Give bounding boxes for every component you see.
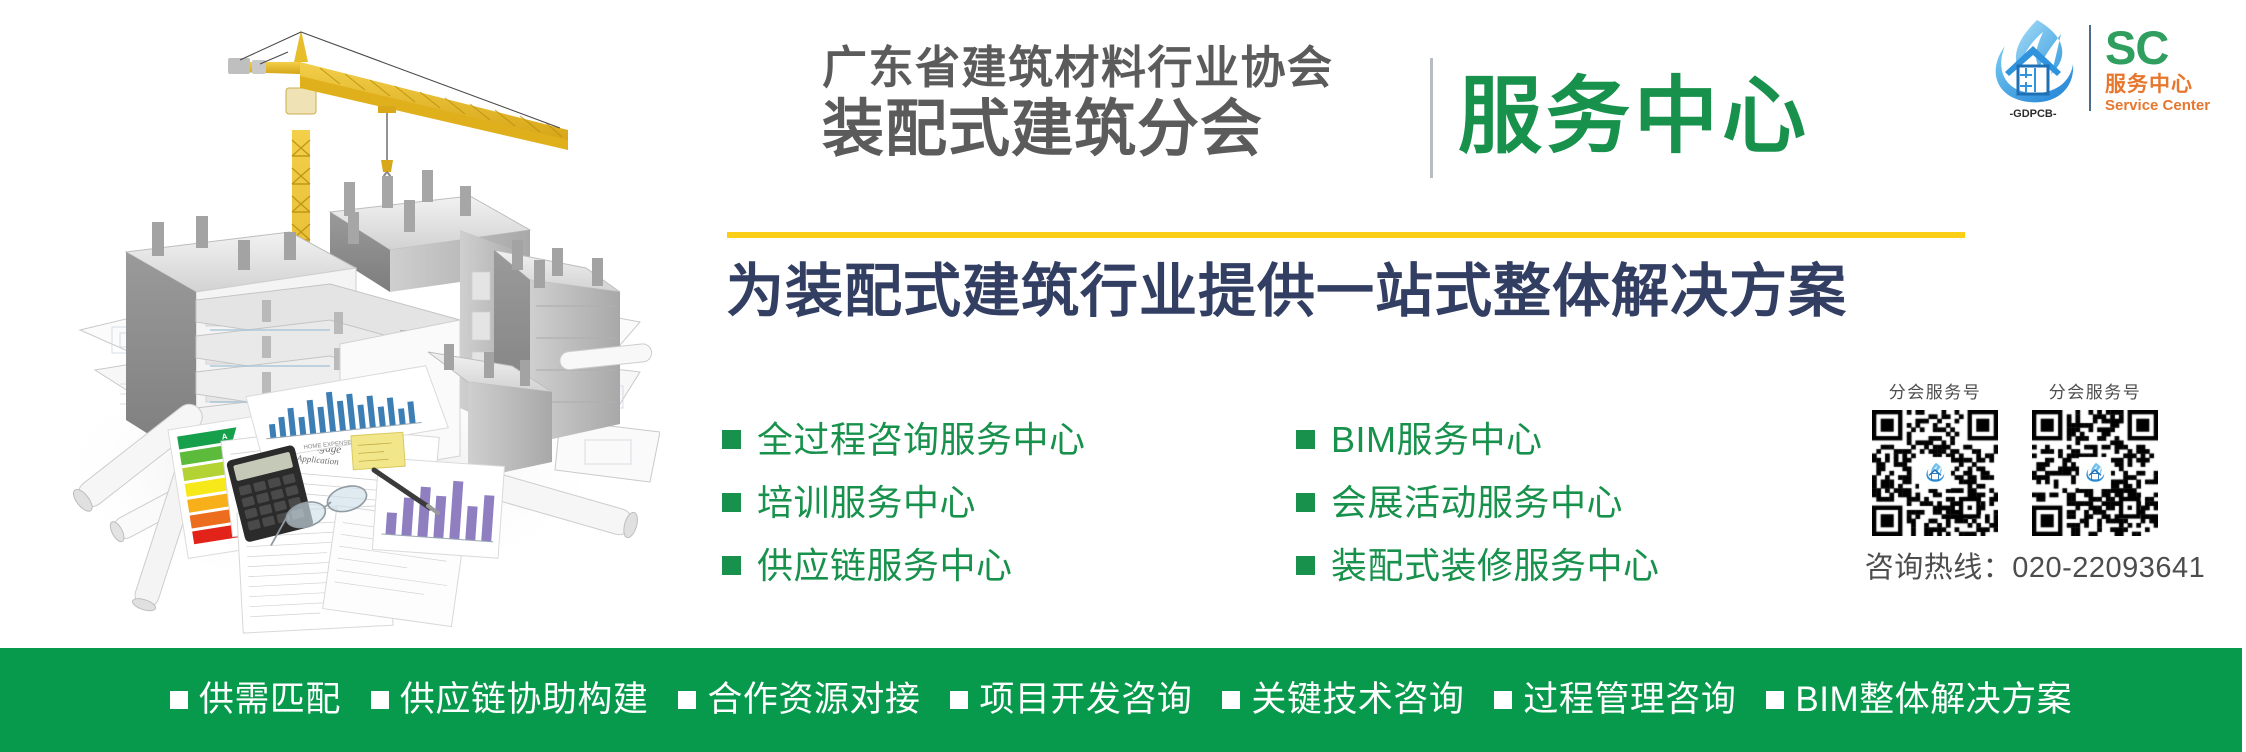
association-name: 广东省建筑材料行业协会: [822, 42, 1412, 94]
qr-code-icon[interactable]: [1872, 410, 1998, 536]
page-tagline: 为装配式建筑行业提供一站式整体解决方案: [726, 256, 1847, 328]
sticky-note: [351, 432, 405, 470]
square-bullet-icon: [1494, 691, 1512, 709]
square-bullet-icon: [950, 691, 968, 709]
list-item[interactable]: 会展活动服务中心: [1296, 471, 1660, 534]
construction-site-illustration: ABC DEF G Mortgage Application: [0, 0, 660, 640]
bar-item-label: 过程管理咨询: [1523, 680, 1736, 720]
service-center-label: 装配式装修服务中心: [1331, 546, 1660, 586]
bar-item[interactable]: 供应链协助构建: [371, 680, 649, 720]
gdpcb-flame-house-icon: -GDPCB-: [1985, 16, 2081, 120]
qr-cell[interactable]: 分会服务号: [1870, 382, 2000, 536]
service-center-label: 培训服务中心: [757, 483, 976, 523]
square-bullet-icon: [722, 556, 741, 575]
square-bullet-icon: [170, 691, 188, 709]
gdpcb-flame-house-icon: [2081, 459, 2109, 487]
list-item[interactable]: 培训服务中心: [722, 471, 1086, 534]
service-center-list-right: BIM服务中心 会展活动服务中心 装配式装修服务中心: [1296, 408, 1660, 597]
bar-item-label: 供需匹配: [199, 680, 341, 720]
sc-english-label: Service Center: [2105, 97, 2210, 114]
bar-item[interactable]: 过程管理咨询: [1494, 680, 1736, 720]
service-center-label: BIM服务中心: [1331, 420, 1543, 460]
bar-item[interactable]: 关键技术咨询: [1222, 680, 1464, 720]
gdpcb-flame-house-icon: [1921, 459, 1949, 487]
bar-item[interactable]: 供需匹配: [170, 680, 341, 720]
bar-item-label: 关键技术咨询: [1251, 680, 1464, 720]
square-bullet-icon: [1766, 691, 1784, 709]
service-center-list-left: 全过程咨询服务中心 培训服务中心 供应链服务中心: [722, 408, 1086, 597]
bar-item-label: 合作资源对接: [707, 680, 920, 720]
list-item[interactable]: 供应链服务中心: [722, 534, 1086, 597]
bar-item-label: BIM整体解决方案: [1795, 680, 2072, 720]
square-bullet-icon: [1296, 556, 1315, 575]
list-item[interactable]: BIM服务中心: [1296, 408, 1660, 471]
sc-abbreviation: SC: [2105, 26, 2210, 70]
service-center-label: 全过程咨询服务中心: [757, 420, 1086, 460]
sc-wordmark: SC 服务中心 Service Center: [2105, 22, 2210, 114]
service-center-heading: 服务中心: [1458, 56, 1810, 176]
bar-item-label: 供应链协助构建: [400, 680, 649, 720]
logo-lockup[interactable]: -GDPCB- SC 服务中心 Service Center: [1985, 14, 2235, 122]
service-center-label: 会展活动服务中心: [1331, 483, 1623, 523]
square-bullet-icon: [722, 430, 741, 449]
square-bullet-icon: [1296, 430, 1315, 449]
qr-caption: 分会服务号: [1870, 382, 2000, 404]
vertical-rule-icon: [1430, 58, 1433, 178]
bar-item[interactable]: BIM整体解决方案: [1766, 680, 2072, 720]
gold-divider: [727, 232, 1965, 238]
qr-cell[interactable]: 分会服务号: [2030, 382, 2160, 536]
promotional-banner: ABC DEF G Mortgage Application: [0, 0, 2246, 752]
square-bullet-icon: [1222, 691, 1240, 709]
square-bullet-icon: [678, 691, 696, 709]
bar-chart-printout-purple: [372, 458, 504, 559]
bar-item-label: 项目开发咨询: [979, 680, 1192, 720]
vertical-rule-icon: [2089, 25, 2091, 111]
bar-item[interactable]: 合作资源对接: [678, 680, 920, 720]
square-bullet-icon: [1296, 493, 1315, 512]
service-center-label: 供应链服务中心: [757, 546, 1013, 586]
branch-name: 装配式建筑分会: [822, 95, 1412, 165]
logo-mark-caption: -GDPCB-: [2009, 108, 2056, 120]
list-item[interactable]: 装配式装修服务中心: [1296, 534, 1660, 597]
qr-code-icon[interactable]: [2032, 410, 2158, 536]
bottom-service-bar: 供需匹配 供应链协助构建 合作资源对接 项目开发咨询 关键技术咨询 过程管理咨询: [0, 648, 2242, 752]
qr-caption: 分会服务号: [2030, 382, 2160, 404]
qr-contact-block: 分会服务号 分会服务号: [1840, 382, 2230, 586]
organisation-title: 广东省建筑材料行业协会 装配式建筑分会: [822, 42, 1412, 165]
sc-chinese-label: 服务中心: [2105, 73, 2210, 97]
construction-scene-svg: ABC DEF G Mortgage Application: [0, 0, 660, 640]
square-bullet-icon: [722, 493, 741, 512]
list-item[interactable]: 全过程咨询服务中心: [722, 408, 1086, 471]
bar-item[interactable]: 项目开发咨询: [950, 680, 1192, 720]
square-bullet-icon: [371, 691, 389, 709]
hotline-text: 咨询热线：020-22093641: [1840, 550, 2230, 586]
